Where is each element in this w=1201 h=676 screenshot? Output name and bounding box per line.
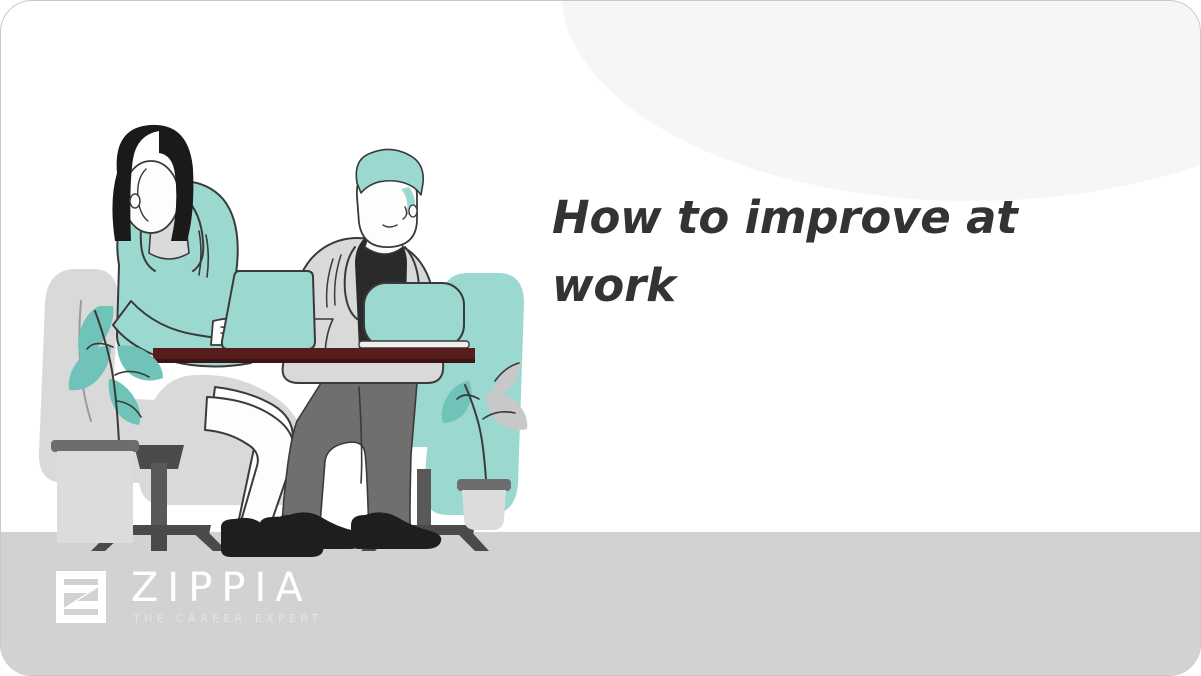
slide-card: How to improve at work ZIPPIA THE CAREER… [0, 0, 1201, 676]
laptop-right [359, 283, 469, 348]
potted-plant-right [442, 361, 528, 530]
background-blob-shape [561, 0, 1201, 201]
zippia-logo-text: ZIPPIA THE CAREER EXPERT [131, 567, 323, 627]
zippia-z-square-icon [53, 568, 109, 626]
laptop-left [222, 271, 315, 349]
zippia-logo: ZIPPIA THE CAREER EXPERT [53, 567, 323, 627]
zippia-tagline: THE CAREER EXPERT [133, 611, 323, 627]
man-figure [275, 149, 443, 549]
desk [153, 348, 475, 363]
page-title: How to improve at work [552, 184, 1072, 321]
office-chair-right [351, 273, 524, 515]
zippia-wordmark: ZIPPIA [131, 567, 323, 609]
woman-figure [112, 125, 323, 557]
potted-plant-left [51, 306, 163, 543]
office-chair-left [39, 269, 311, 505]
